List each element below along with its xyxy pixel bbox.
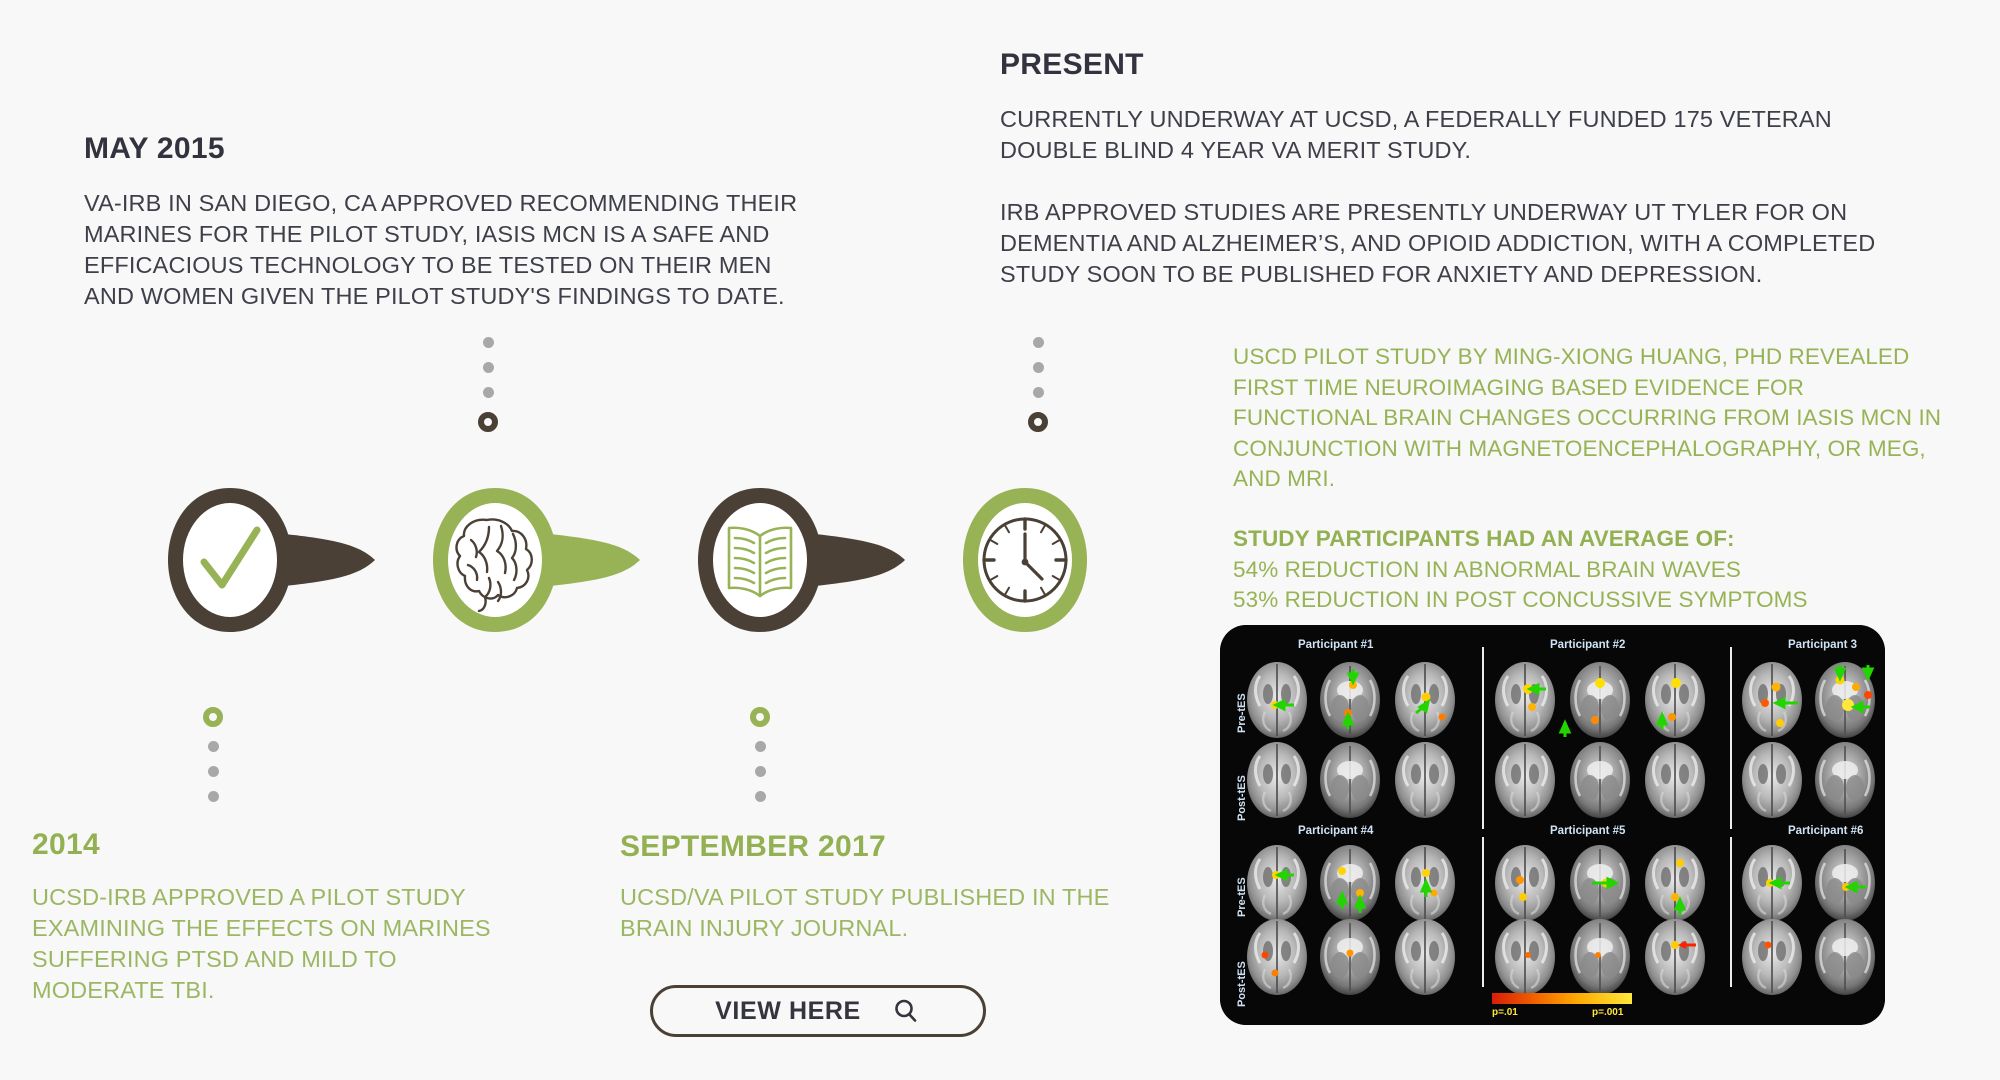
view-here-button[interactable]: VIEW HERE xyxy=(650,985,986,1037)
present-heading: PRESENT xyxy=(1000,48,1880,82)
participant-label-6: Participant #6 xyxy=(1788,825,1863,837)
row-label-post-tes: Post-tES xyxy=(1236,961,1248,1007)
connector-dot xyxy=(208,791,219,802)
participant-label-3: Participant 3 xyxy=(1788,639,1857,651)
meg-brain-imaging-figure: Participant #1 Participant #2 Participan… xyxy=(1220,625,1885,1025)
connector-dots-2014 xyxy=(203,700,223,809)
participant-label-2: Participant #2 xyxy=(1550,639,1625,651)
connector-dots-september-2017 xyxy=(750,700,770,809)
milestone-september-2017: SEPTEMBER 2017 UCSD/VA PILOT STUDY PUBLI… xyxy=(620,830,1140,944)
present-paragraph-2: IRB APPROVED STUDIES ARE PRESENTLY UNDER… xyxy=(1000,197,1880,290)
participant-label-5: Participant #5 xyxy=(1550,825,1625,837)
participant-label-1: Participant #1 xyxy=(1298,639,1373,651)
year-2014-body: UCSD-IRB APPROVED A PILOT STUDY EXAMININ… xyxy=(32,882,502,1006)
row-label-post-tes: Post-tES xyxy=(1236,775,1248,821)
milestone-may-2015: MAY 2015 VA-IRB IN SAN DIEGO, CA APPROVE… xyxy=(84,132,824,312)
may-2015-heading: MAY 2015 xyxy=(84,132,824,166)
connector-dot xyxy=(483,387,494,398)
connector-dot xyxy=(755,741,766,752)
milestone-present: PRESENT CURRENTLY UNDERWAY AT UCSD, A FE… xyxy=(1000,48,1880,290)
present-paragraph-1: CURRENTLY UNDERWAY AT UCSD, A FEDERALLY … xyxy=(1000,104,1880,166)
row-label-pre-tes: Pre-tES xyxy=(1236,693,1248,733)
connector-dot xyxy=(755,766,766,777)
row-label-pre-tes: Pre-tES xyxy=(1236,877,1248,917)
timeline-chain xyxy=(120,480,1140,640)
connector-ring xyxy=(750,707,770,727)
connector-dot xyxy=(208,741,219,752)
stats-line-1: 54% REDUCTION IN ABNORMAL BRAIN WAVES xyxy=(1233,557,1741,582)
chain-node-book[interactable] xyxy=(698,488,822,632)
milestone-2014: 2014 UCSD-IRB APPROVED A PILOT STUDY EXA… xyxy=(32,828,502,1006)
may-2015-body: VA-IRB IN SAN DIEGO, CA APPROVED RECOMME… xyxy=(84,188,824,312)
chain-node-checkmark[interactable] xyxy=(168,488,292,632)
year-2014-heading: 2014 xyxy=(32,828,502,862)
connector-dots-present xyxy=(1028,330,1048,439)
chain-node-clock[interactable] xyxy=(963,488,1087,632)
connector-ring xyxy=(478,412,498,432)
connector-dot xyxy=(483,362,494,373)
view-here-label: VIEW HERE xyxy=(715,997,861,1026)
stats-line-2: 53% REDUCTION IN POST CONCUSSIVE SYMPTOM… xyxy=(1233,587,1808,612)
significance-color-scale xyxy=(1492,993,1632,1004)
stats-heading: STUDY PARTICIPANTS HAD AN AVERAGE OF: xyxy=(1233,524,1953,555)
connector-dot xyxy=(1033,387,1044,398)
connector-dots-may-2015 xyxy=(478,330,498,439)
connector-dot xyxy=(208,766,219,777)
magnifier-icon xyxy=(891,996,921,1026)
chain-node-brain[interactable] xyxy=(433,488,557,632)
connector-dot xyxy=(1033,337,1044,348)
connector-dot xyxy=(483,337,494,348)
ucsd-pilot-study-note: USCD PILOT STUDY BY MING-XIONG HUANG, PH… xyxy=(1233,342,1953,495)
september-2017-heading: SEPTEMBER 2017 xyxy=(620,830,1140,864)
september-2017-body: UCSD/VA PILOT STUDY PUBLISHED IN THE BRA… xyxy=(620,882,1140,944)
connector-ring xyxy=(203,707,223,727)
connector-ring xyxy=(1028,412,1048,432)
infographic-canvas: MAY 2015 VA-IRB IN SAN DIEGO, CA APPROVE… xyxy=(0,0,2000,1080)
study-results-stats: STUDY PARTICIPANTS HAD AN AVERAGE OF: 54… xyxy=(1233,524,1953,616)
connector-dot xyxy=(1033,362,1044,373)
scale-min-label: p=.01 xyxy=(1492,1007,1518,1018)
participant-label-4: Participant #4 xyxy=(1298,825,1373,837)
scale-max-label: p=.001 xyxy=(1592,1007,1623,1018)
connector-dot xyxy=(755,791,766,802)
